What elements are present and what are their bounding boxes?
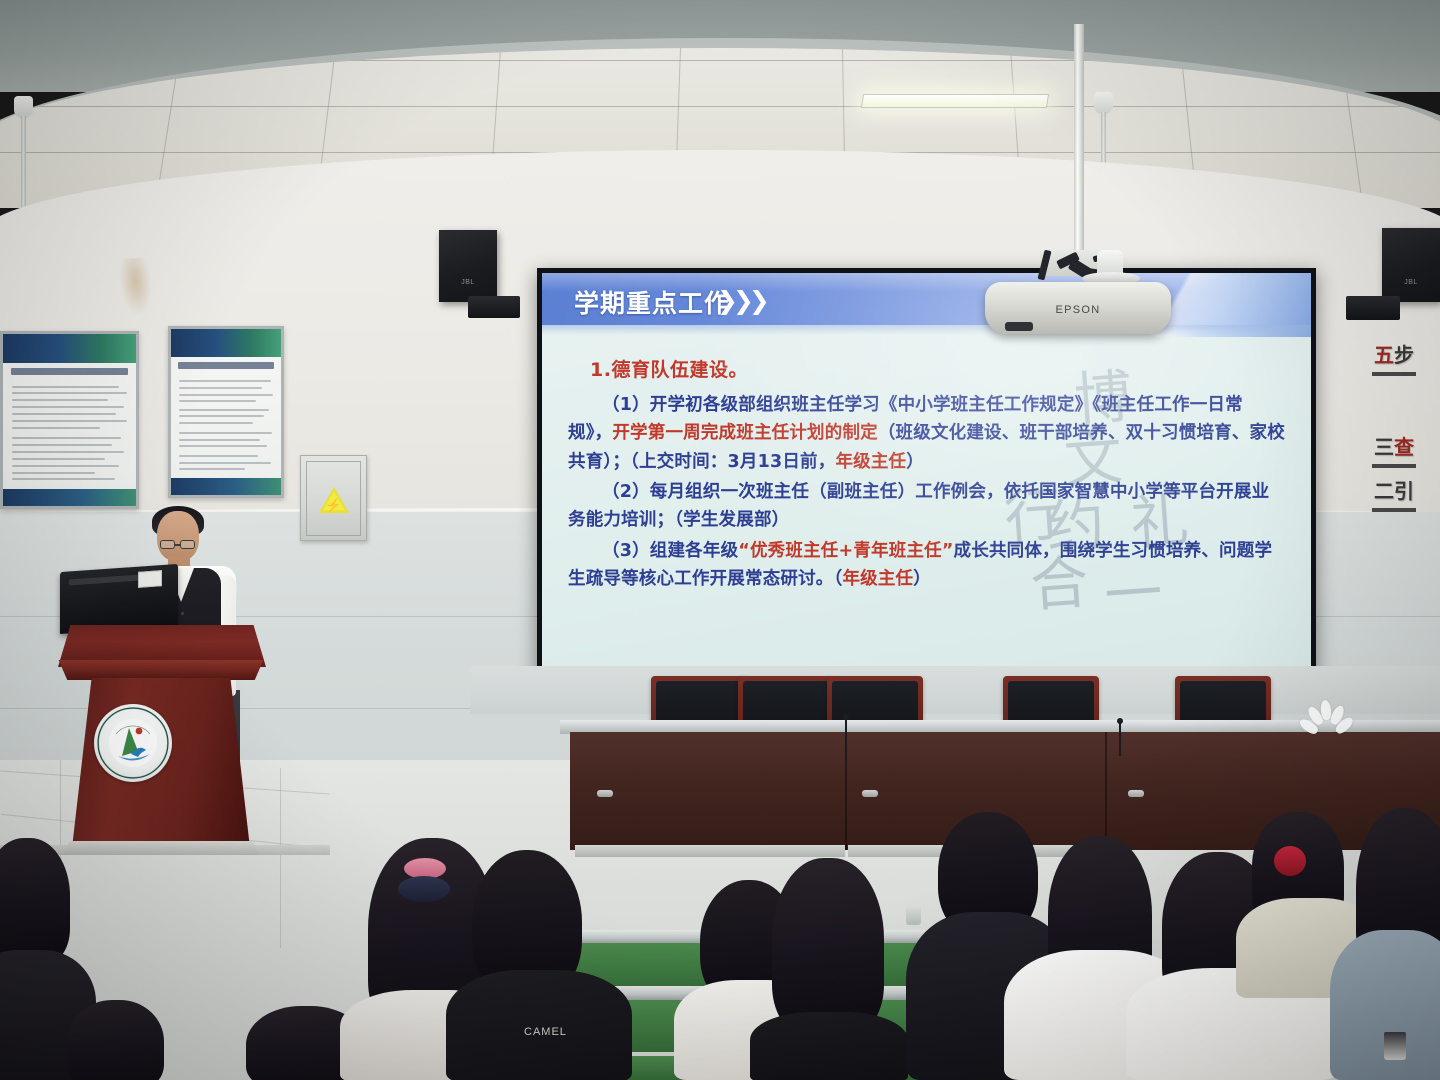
hair-scrunchie-red	[1274, 846, 1306, 876]
slide-paragraph-3: （3）组建各年级“优秀班主任+青年班主任”成长共同体，围绕学生习惯培养、问题学生…	[568, 537, 1285, 594]
poster-footer-band	[171, 478, 281, 495]
slogan-char-small: 步	[1394, 343, 1414, 367]
presidium-chair	[651, 676, 747, 724]
slogan-underline	[1372, 464, 1416, 468]
poster-title-bar	[11, 368, 128, 375]
slide-paragraph-2: （2）每月组织一次班主任（副班主任）工作例会，依托国家智慧中小学等平台开展业务能…	[568, 478, 1285, 535]
presidium-chair	[827, 676, 923, 724]
poster-header-band	[171, 329, 281, 357]
podium-base	[62, 841, 260, 855]
slide-title: 学期重点工作	[574, 284, 730, 320]
table-microphone	[845, 718, 847, 764]
electrical-cabinet: ⚡	[300, 455, 367, 541]
presidium-chair	[738, 676, 834, 724]
seg: （3）组建各年级	[602, 541, 738, 561]
audience-member-body	[750, 1012, 908, 1080]
eyeglasses-right-lens	[180, 540, 195, 549]
presidium-backwall	[470, 666, 1440, 714]
seg-emphasis: 年级主任	[835, 452, 906, 472]
slide-paragraph-1: （1）开学初各级部组织班主任学习《中小学班主任工作规定》《班主任工作一日常规》，…	[568, 391, 1285, 476]
audience-member-body	[446, 970, 632, 1080]
slogan-char-big: 二	[1374, 479, 1394, 503]
slogan-underline	[1372, 372, 1416, 376]
slide-body: 1.德育队伍建设。 （1）开学初各级部组织班主任学习《中小学班主任工作规定》《班…	[542, 335, 1311, 683]
slogan-char-small: 查	[1394, 435, 1414, 459]
slogan-char-big: 五	[1374, 343, 1394, 367]
wall-slogan-1: 五步	[1372, 345, 1416, 376]
slogan-char-big: 三	[1374, 435, 1394, 459]
slide-heading: 1.德育队伍建设。	[590, 355, 1285, 382]
audience-member	[68, 1000, 164, 1080]
speaker-bracket-right	[1346, 296, 1400, 320]
podium-lip	[52, 660, 270, 680]
wall-slogan-3: 二引	[1372, 481, 1416, 512]
eyeglasses-bridge	[175, 544, 180, 546]
slogan-char-small: 引	[1394, 479, 1414, 503]
table-microphone	[1119, 722, 1121, 756]
presidium-chair	[1003, 676, 1099, 724]
drink-cup	[906, 906, 921, 925]
microphone-head	[1117, 718, 1123, 724]
seg: （2）每月组织一次班主任（副班主任）工作例会，依托国家智慧中小学等平台开展业务能…	[568, 482, 1269, 530]
table-panel-divider	[1105, 732, 1107, 850]
seg-emphasis: 开学第一周完成班主任计划的制定	[612, 423, 878, 443]
audience-member	[0, 838, 70, 964]
presenter-head	[157, 511, 199, 561]
audience-member	[772, 858, 884, 1034]
presidium-chair	[1175, 676, 1271, 724]
table-knob	[862, 790, 878, 797]
projector-pole	[1074, 24, 1084, 274]
projector-brand-label: EPSON	[985, 304, 1171, 316]
drink-cup	[1384, 1032, 1406, 1060]
flower-arrangement	[1300, 700, 1348, 736]
slogan-underline	[1372, 508, 1416, 512]
slide-header-bar: 学期重点工作 ❯❯❯	[542, 273, 1311, 325]
chevron-right-icon: ❯❯❯	[717, 286, 765, 315]
table-plinth	[575, 845, 845, 857]
table-knob	[1128, 790, 1144, 797]
table-knob	[597, 790, 613, 797]
hair-scrunchie-navy	[398, 876, 450, 902]
microphone-head	[843, 714, 849, 720]
school-emblem	[94, 704, 172, 782]
wall-speaker-left: JBL	[439, 230, 497, 302]
speaker-brand-label: JBL	[461, 279, 475, 286]
poster-header-band	[3, 334, 136, 363]
projector-lens	[1005, 322, 1033, 331]
eyeglasses-left-lens	[160, 540, 175, 549]
seg: ）	[913, 569, 931, 589]
wall-speaker-right: JBL	[1382, 228, 1440, 302]
speaker-bracket-left	[468, 296, 520, 318]
ceiling-light-panel	[861, 94, 1049, 108]
projection-screen: 学期重点工作 ❯❯❯ 博 文 约 礼 行 合 一 1.德育队伍建设。 （1）开学…	[537, 268, 1316, 688]
wall-slogan-2: 三查	[1372, 437, 1416, 468]
wall-stain	[117, 256, 155, 317]
laptop-label-tag	[138, 570, 162, 588]
auditorium-scene: ⚡ JBL JBL 五步 三查 二引 学期重点工作 ❯❯❯	[0, 0, 1440, 1080]
speaker-brand-label: JBL	[1404, 279, 1418, 286]
slide-surface: 学期重点工作 ❯❯❯ 博 文 约 礼 行 合 一 1.德育队伍建设。 （1）开学…	[542, 273, 1311, 683]
wall-poster-left	[0, 331, 139, 509]
wall-poster-right	[168, 326, 284, 498]
lightning-bolt-icon: ⚡	[325, 498, 341, 511]
poster-footer-band	[3, 489, 136, 506]
poster-title-bar	[178, 362, 275, 369]
seg: ）	[906, 452, 924, 472]
seg-emphasis: 年级主任	[842, 569, 913, 589]
jacket-brand-label: CAMEL	[524, 1026, 567, 1038]
seg-emphasis: “优秀班主任+青年班主任”	[738, 541, 953, 561]
